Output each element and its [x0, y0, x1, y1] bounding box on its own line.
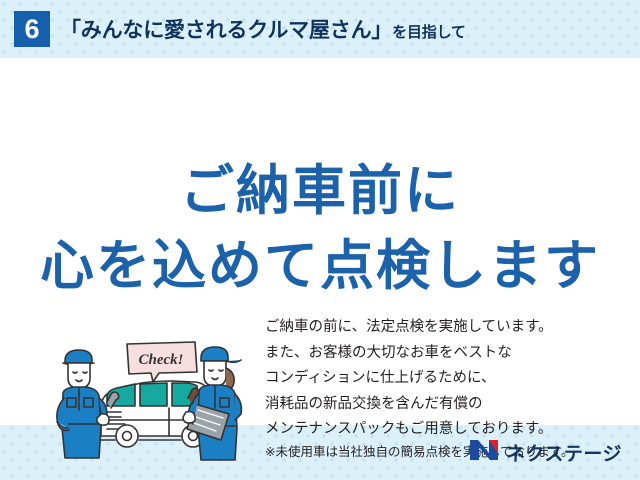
header-title-sub: を目指して [392, 21, 466, 42]
headline-line-1: ご納車前に [0, 146, 640, 225]
header-title: 「みんなに愛されるクルマ屋さん」 を目指して [60, 14, 466, 44]
section-number-badge: 6 [14, 11, 50, 47]
body-line-3: コンディションに仕上げるために、 [265, 366, 553, 392]
advertisement-page: 6 「みんなに愛されるクルマ屋さん」 を目指して ご納車前に 心を込めて点検しま… [0, 0, 640, 480]
content-panel: ご納車前に 心を込めて点検します [0, 58, 640, 425]
nextage-logo-text: ネクステージ [506, 439, 622, 466]
mechanics-illustration: Check! [55, 328, 260, 468]
check-speech-bubble: Check! [127, 342, 197, 382]
header-bar: 6 「みんなに愛されるクルマ屋さん」 を目指して [0, 0, 640, 58]
header-title-main: 「みんなに愛されるクルマ屋さん」 [60, 14, 392, 44]
body-line-2: また、お客様の大切なお車をベストな [265, 341, 553, 367]
male-mechanic [57, 350, 119, 458]
nextage-n-mark-icon [469, 439, 499, 466]
body-line-1: ご納車の前に、法定点検を実施しています。 [265, 315, 553, 341]
body-copy: ご納車の前に、法定点検を実施しています。 また、お客様の大切なお車をベストな コ… [265, 315, 553, 443]
body-line-4: 消耗品の新品交換を含んだ有償の [265, 392, 553, 418]
speech-bubble-text: Check! [139, 352, 184, 368]
nextage-logo: ネクステージ [469, 439, 622, 466]
headline-line-2: 心を込めて点検します [0, 221, 640, 300]
